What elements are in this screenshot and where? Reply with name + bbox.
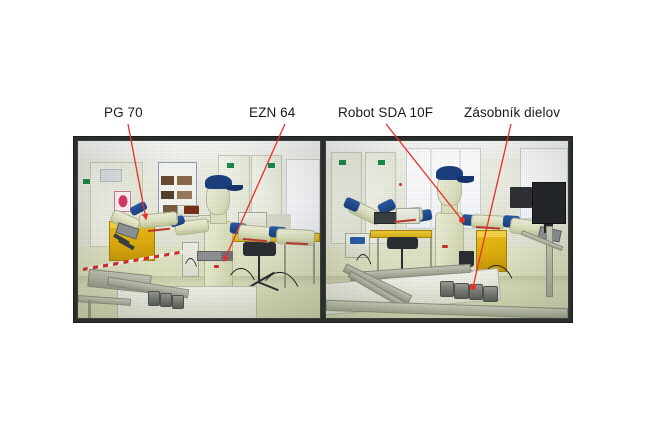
photo-vignette-right	[326, 141, 568, 318]
figure-root: PG 70 EZN 64 Robot SDA 10F Zásobník diel…	[0, 0, 650, 434]
callout-label-robot-sda-10f: Robot SDA 10F	[338, 106, 433, 121]
photo-vignette-left	[78, 141, 320, 318]
callout-label-zasobnik-dielov: Zásobník dielov	[464, 106, 560, 121]
scene-right	[326, 141, 568, 318]
photo-panel-left	[77, 140, 321, 319]
callout-label-ezn64: EZN 64	[249, 106, 295, 121]
scene-left	[78, 141, 320, 318]
photo-panel-right	[325, 140, 569, 319]
figure-frame	[73, 136, 573, 323]
callout-label-pg70: PG 70	[104, 106, 143, 121]
